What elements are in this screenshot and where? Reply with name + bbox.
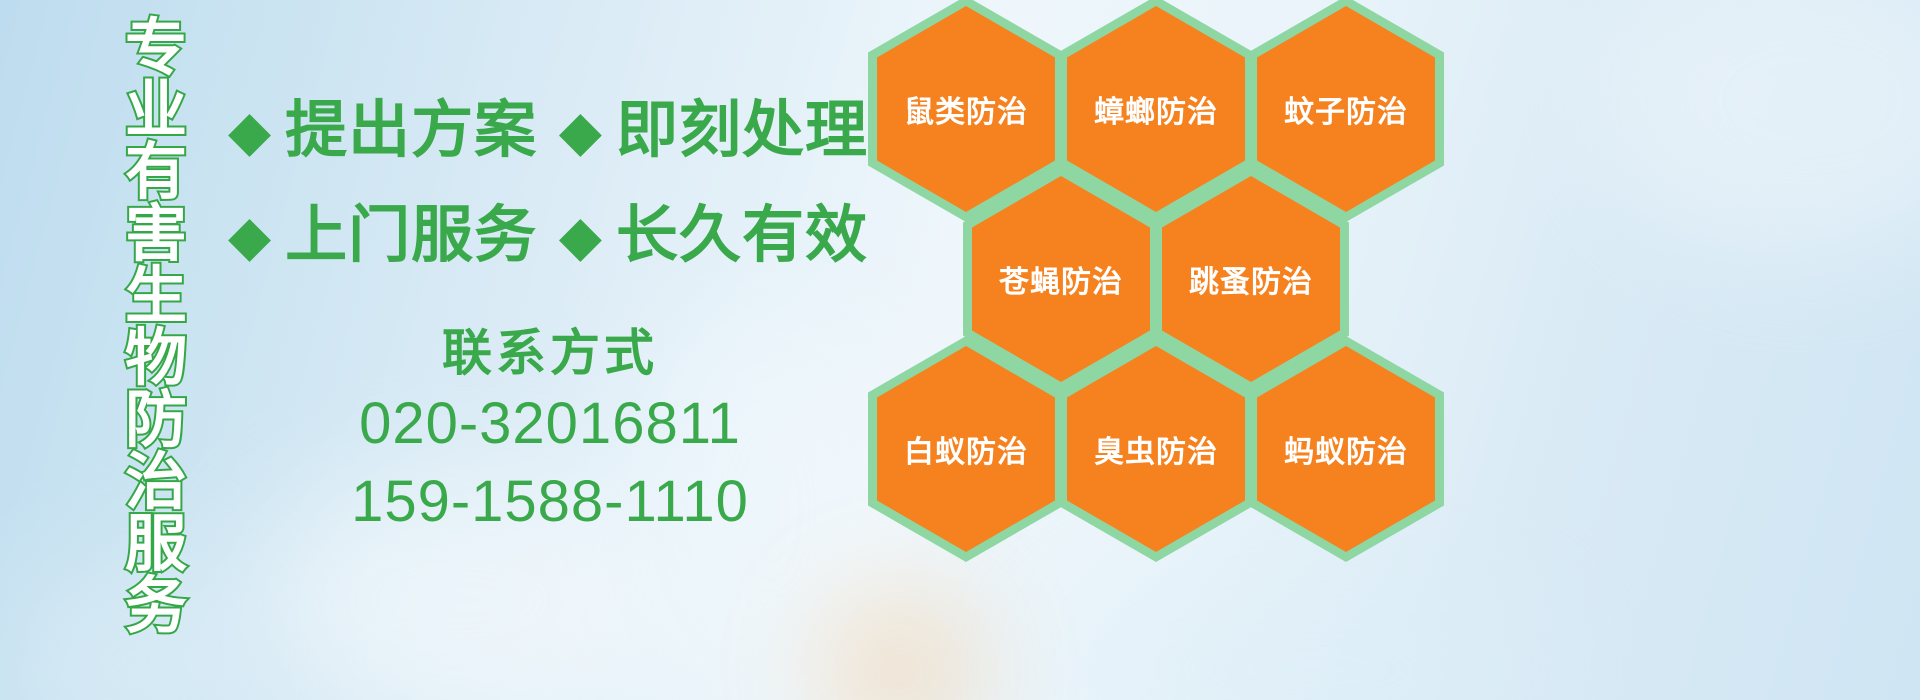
service-label: 白蚁防治: [904, 427, 1028, 471]
vertical-slogan-char: 防: [125, 390, 187, 452]
diamond-bullet-icon: ◆: [228, 208, 271, 264]
feature-label: 提出方案: [285, 100, 537, 162]
phone-number-mobile[interactable]: 159-1588-1110: [300, 463, 800, 541]
feature-row: ◆ 上门服务 ◆ 长久有效: [228, 183, 868, 288]
diamond-bullet-icon: ◆: [559, 208, 602, 264]
vertical-slogan-char: 专: [125, 18, 187, 80]
service-label: 鼠类防治: [904, 87, 1028, 131]
vertical-slogan-char: 务: [125, 576, 187, 638]
phone-number-landline[interactable]: 020-32016811: [300, 385, 800, 463]
diamond-bullet-icon: ◆: [228, 103, 271, 159]
vertical-slogan-char: 有: [125, 142, 187, 204]
feature-item: ◆ 上门服务: [228, 205, 537, 267]
service-hexagon-grid: 鼠类防治 蟑螂防治 蚊子防治 苍蝇防治 跳蚤防治 白蚁防治 臭虫防治 蚂蚁: [856, 0, 1456, 700]
feature-item: ◆ 提出方案: [228, 100, 537, 162]
service-label: 臭虫防治: [1094, 427, 1218, 471]
contact-title: 联系方式: [300, 322, 800, 385]
feature-row: ◆ 提出方案 ◆ 即刻处理: [228, 78, 868, 183]
service-label: 蚂蚁防治: [1284, 427, 1408, 471]
feature-label: 长久有效: [616, 205, 868, 267]
vertical-slogan-char: 生: [125, 266, 187, 328]
vertical-slogan-char: 治: [125, 452, 187, 514]
vertical-slogan-char: 害: [125, 204, 187, 266]
service-label: 蟑螂防治: [1094, 87, 1218, 131]
vertical-slogan-char: 服: [125, 514, 187, 576]
feature-label: 上门服务: [285, 205, 537, 267]
feature-list: ◆ 提出方案 ◆ 即刻处理 ◆ 上门服务 ◆ 长久有效: [228, 78, 868, 288]
background-blob: [1600, 0, 1920, 260]
diamond-bullet-icon: ◆: [559, 103, 602, 159]
contact-block: 联系方式 020-32016811 159-1588-1110: [300, 322, 800, 541]
feature-item: ◆ 长久有效: [559, 205, 868, 267]
vertical-slogan-char: 业: [125, 80, 187, 142]
service-label: 蚊子防治: [1284, 87, 1408, 131]
feature-label: 即刻处理: [616, 100, 868, 162]
vertical-slogan: 专 业 有 害 生 物 防 治 服 务: [110, 18, 202, 558]
feature-item: ◆ 即刻处理: [559, 100, 868, 162]
service-label: 跳蚤防治: [1189, 257, 1313, 301]
pest-control-banner: 专 业 有 害 生 物 防 治 服 务 ◆ 提出方案 ◆ 即刻处理 ◆ 上门服务: [0, 0, 1920, 700]
service-label: 苍蝇防治: [999, 257, 1123, 301]
vertical-slogan-char: 物: [125, 328, 187, 390]
